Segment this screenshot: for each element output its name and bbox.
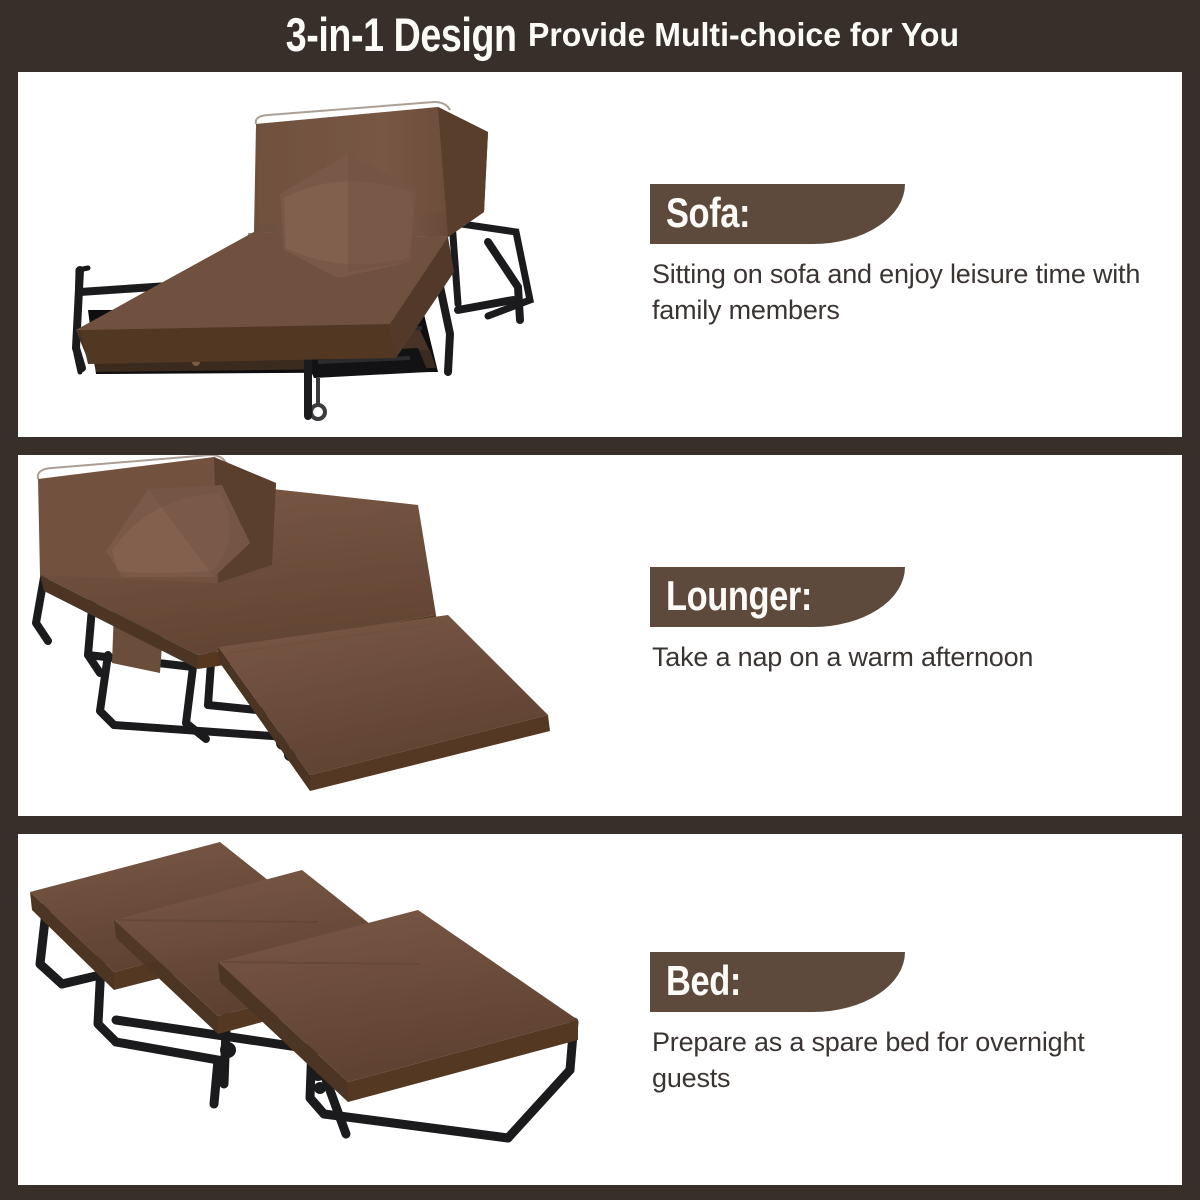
product-image-lounger [18, 455, 638, 816]
badge-sofa: Sofa: [650, 184, 905, 244]
product-image-bed [18, 834, 638, 1185]
feature-panel-bed: Bed: Prepare as a spare bed for overnigh… [18, 834, 1182, 1185]
feature-text-bed: Bed: Prepare as a spare bed for overnigh… [638, 834, 1182, 1185]
lounger-illustration [18, 455, 638, 816]
bed-illustration [18, 834, 638, 1185]
description-bed: Prepare as a spare bed for overnight gue… [652, 1025, 1152, 1096]
badge-lounger: Lounger: [650, 567, 905, 627]
header-banner: 3-in-1 Design Provide Multi-choice for Y… [0, 0, 1200, 72]
feature-text-sofa: Sofa: Sitting on sofa and enjoy leisure … [638, 72, 1182, 437]
page-subtitle: Provide Multi-choice for You [528, 18, 959, 54]
badge-bed: Bed: [650, 952, 905, 1012]
badge-label-sofa: Sofa: [666, 192, 750, 236]
feature-panel-lounger: Lounger: Take a nap on a warm afternoon [18, 455, 1182, 816]
feature-text-lounger: Lounger: Take a nap on a warm afternoon [638, 455, 1182, 816]
badge-label-bed: Bed: [666, 960, 741, 1004]
badge-label-lounger: Lounger: [666, 575, 812, 619]
sofa-illustration [18, 72, 638, 437]
description-lounger: Take a nap on a warm afternoon [652, 640, 1152, 676]
product-feature-infographic: 3-in-1 Design Provide Multi-choice for Y… [0, 0, 1200, 1200]
page-title: 3-in-1 Design [285, 11, 516, 61]
product-image-sofa [18, 72, 638, 437]
feature-panel-sofa: Sofa: Sitting on sofa and enjoy leisure … [18, 72, 1182, 437]
description-sofa: Sitting on sofa and enjoy leisure time w… [652, 257, 1152, 328]
